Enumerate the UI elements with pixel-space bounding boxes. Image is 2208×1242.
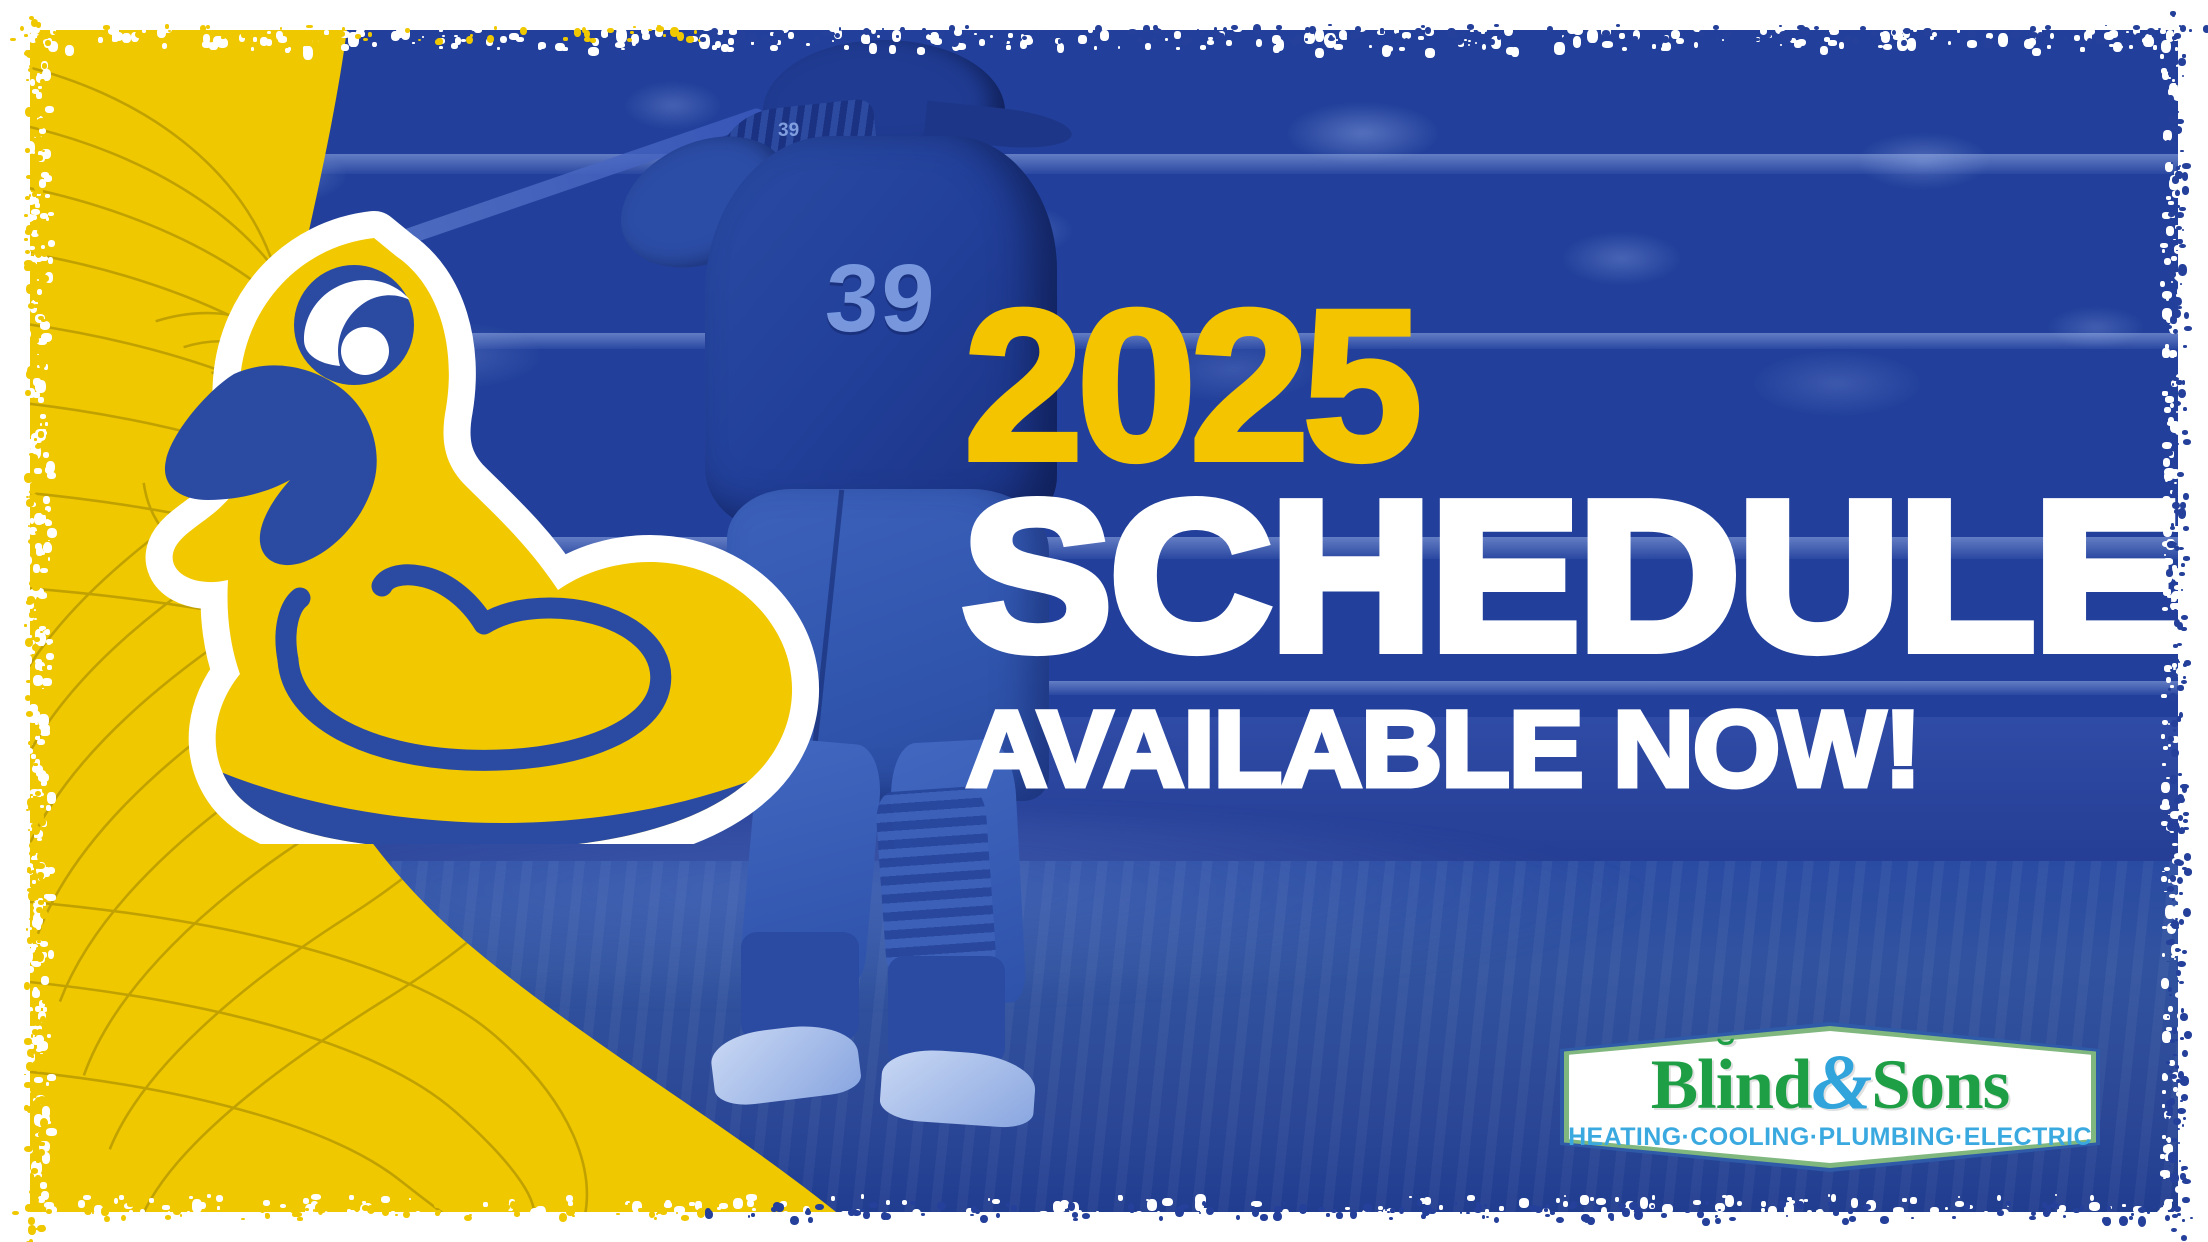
player-sock: [888, 956, 1005, 1064]
border-right: [2178, 0, 2208, 1242]
helmet-number: 39: [778, 120, 799, 142]
schedule-heading: SCHEDULE: [962, 485, 2182, 667]
player-sock: [741, 932, 858, 1040]
wordmark-part1: Bl: [1651, 1046, 1716, 1124]
duck-eye: [294, 265, 414, 385]
player-cleat: [878, 1047, 1037, 1129]
leg-guard: [874, 785, 997, 984]
player-cleat: [708, 1020, 862, 1109]
wordmark-i-breve: i: [1716, 1046, 1735, 1124]
headline-block: 2025 SCHEDULE AVAILABLE NOW!: [962, 290, 2142, 803]
wordmark-part2: nd: [1735, 1046, 1812, 1124]
poster-root: 39 39: [0, 0, 2208, 1242]
available-now-subheading: AVAILABLE NOW!: [966, 695, 2182, 803]
wordmark-ampersand: &: [1812, 1038, 1872, 1125]
sponsor-tagline: HEATING·COOLING·PLUMBING·ELECTRIC: [1568, 1123, 2092, 1152]
blind-and-sons-logo[interactable]: Blind&Sons HEATING·COOLING·PLUMBING·ELEC…: [1560, 1022, 2100, 1172]
wordmark-part3: Sons: [1871, 1046, 2009, 1124]
rubber-duck-logo: [122, 194, 822, 844]
year-heading: 2025: [964, 290, 2142, 483]
artwork-plate: 39 39: [26, 22, 2182, 1220]
sponsor-wordmark: Blind&Sons: [1651, 1043, 2010, 1121]
